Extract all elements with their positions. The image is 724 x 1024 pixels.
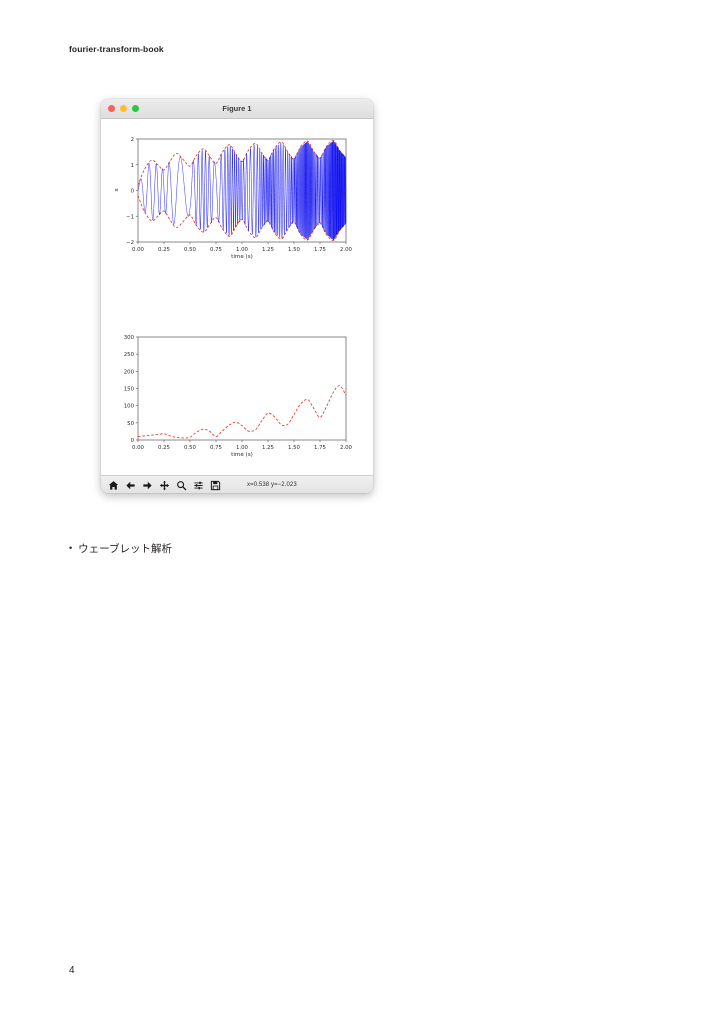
- sliders-icon[interactable]: [191, 478, 205, 492]
- figure-toolbar[interactable]: x=0.538 y=−2.023: [101, 475, 373, 493]
- page-number: 4: [69, 965, 75, 976]
- bullet-label: ウェーブレット解析: [78, 541, 172, 556]
- home-icon[interactable]: [106, 478, 120, 492]
- figure-canvas: 0.000.250.500.751.001.251.501.752.00 −2−…: [101, 119, 373, 475]
- signal-plot: 0.000.250.500.751.001.251.501.752.00 −2−…: [101, 127, 373, 307]
- bullet-marker: •: [69, 544, 72, 553]
- back-arrow-icon[interactable]: [123, 478, 137, 492]
- svg-text:1.75: 1.75: [314, 247, 326, 253]
- y-axis-ticks: −2−1012: [126, 137, 138, 246]
- coordinate-readout: x=0.538 y=−2.023: [247, 482, 297, 488]
- document-header: fourier-transform-book: [69, 44, 164, 54]
- svg-text:−1: −1: [126, 214, 134, 220]
- svg-text:0: 0: [131, 438, 135, 444]
- svg-text:0.00: 0.00: [132, 247, 145, 253]
- svg-text:1.50: 1.50: [288, 445, 301, 451]
- y-axis-ticks: 050100150200250300: [124, 335, 138, 444]
- bullet-list-item: • ウェーブレット解析: [69, 541, 172, 556]
- window-title: Figure 1: [101, 104, 373, 113]
- svg-text:150: 150: [124, 387, 135, 393]
- forward-arrow-icon[interactable]: [140, 478, 154, 492]
- svg-text:0.25: 0.25: [158, 247, 170, 253]
- svg-text:100: 100: [124, 404, 135, 410]
- document-page: fourier-transform-book Figure 1 0.000.25…: [0, 0, 724, 1024]
- svg-text:1.25: 1.25: [262, 445, 274, 451]
- svg-text:250: 250: [124, 352, 135, 358]
- svg-text:200: 200: [124, 369, 135, 375]
- floppy-disk-icon[interactable]: [208, 478, 222, 492]
- figure-window[interactable]: Figure 1 0.000.250.500.751.001.251.501.7…: [101, 99, 373, 493]
- svg-text:2.00: 2.00: [340, 247, 353, 253]
- svg-text:−2: −2: [126, 240, 134, 246]
- chirp-signal-curve: [138, 141, 346, 240]
- svg-text:0: 0: [131, 189, 135, 195]
- svg-text:0.00: 0.00: [132, 445, 145, 451]
- svg-text:2.00: 2.00: [340, 445, 353, 451]
- svg-text:50: 50: [127, 421, 134, 427]
- plot-frame: [138, 337, 346, 440]
- x-axis-label: time (s): [231, 254, 253, 260]
- svg-text:2: 2: [131, 137, 134, 143]
- frequency-curve: [138, 386, 346, 438]
- svg-text:1.25: 1.25: [262, 247, 274, 253]
- pan-icon[interactable]: [157, 478, 171, 492]
- svg-text:0.75: 0.75: [210, 247, 222, 253]
- svg-text:0.50: 0.50: [184, 247, 197, 253]
- svg-text:1: 1: [131, 163, 134, 169]
- svg-text:1.50: 1.50: [288, 247, 301, 253]
- x-axis-ticks: 0.000.250.500.751.001.251.501.752.00: [132, 242, 353, 253]
- magnifier-icon[interactable]: [174, 478, 188, 492]
- svg-text:0.75: 0.75: [210, 445, 222, 451]
- window-titlebar[interactable]: Figure 1: [101, 99, 373, 119]
- svg-text:0.25: 0.25: [158, 445, 170, 451]
- svg-text:0.50: 0.50: [184, 445, 197, 451]
- x-axis-label: time (s): [231, 452, 253, 458]
- x-axis-ticks: 0.000.250.500.751.001.251.501.752.00: [132, 440, 353, 451]
- svg-text:1.75: 1.75: [314, 445, 326, 451]
- svg-text:1.00: 1.00: [236, 445, 249, 451]
- y-axis-label: x: [114, 188, 120, 192]
- instantaneous-frequency-plot: 0.000.250.500.751.001.251.501.752.00 050…: [101, 327, 373, 467]
- svg-text:1.00: 1.00: [236, 247, 249, 253]
- svg-text:300: 300: [124, 335, 135, 341]
